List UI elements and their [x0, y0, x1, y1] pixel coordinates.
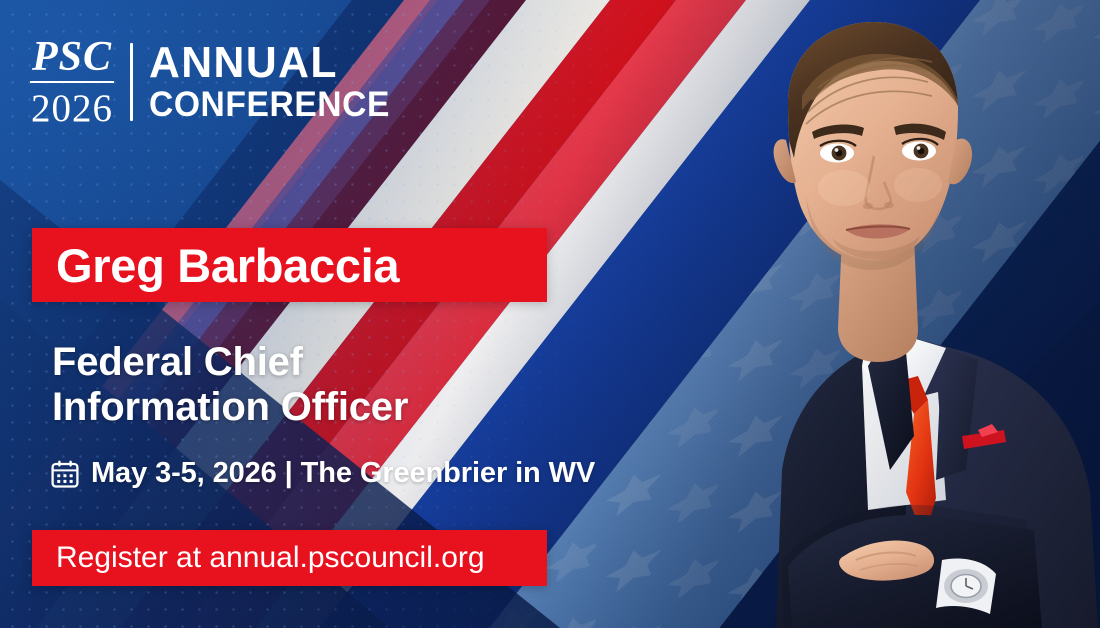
speaker-name-banner: Greg Barbaccia — [32, 228, 547, 302]
event-dateline: May 3-5, 2026 | The Greenbrier in WV — [50, 457, 595, 490]
logo-psc-wordmark: PSC — [30, 36, 114, 83]
logo-conference-text: CONFERENCE — [149, 88, 390, 122]
speaker-title-line-1: Federal Chief — [52, 340, 612, 385]
logo-year: 2026 — [31, 89, 113, 128]
logo-divider-rule — [130, 43, 133, 121]
speaker-title-line-2: Information Officer — [52, 385, 612, 430]
psc-annual-conference-logo: PSC 2026 ANNUAL CONFERENCE — [30, 36, 400, 128]
speaker-title: Federal Chief Information Officer — [52, 340, 612, 430]
speaker-portrait — [606, 0, 1100, 628]
logo-conference-block: ANNUAL CONFERENCE — [149, 42, 400, 123]
event-dateline-text: May 3-5, 2026 | The Greenbrier in WV — [91, 457, 595, 490]
logo-annual-text: ANNUAL — [149, 42, 393, 85]
logo-psc-year-block: PSC 2026 — [30, 36, 114, 128]
register-cta-label: Register at annual.pscouncil.org — [32, 541, 485, 575]
speaker-announcement-poster: PSC 2026 ANNUAL CONFERENCE Greg Barbacci… — [0, 0, 1100, 628]
register-cta-banner[interactable]: Register at annual.pscouncil.org — [32, 530, 547, 586]
calendar-icon — [50, 459, 80, 489]
speaker-name: Greg Barbaccia — [32, 238, 399, 293]
